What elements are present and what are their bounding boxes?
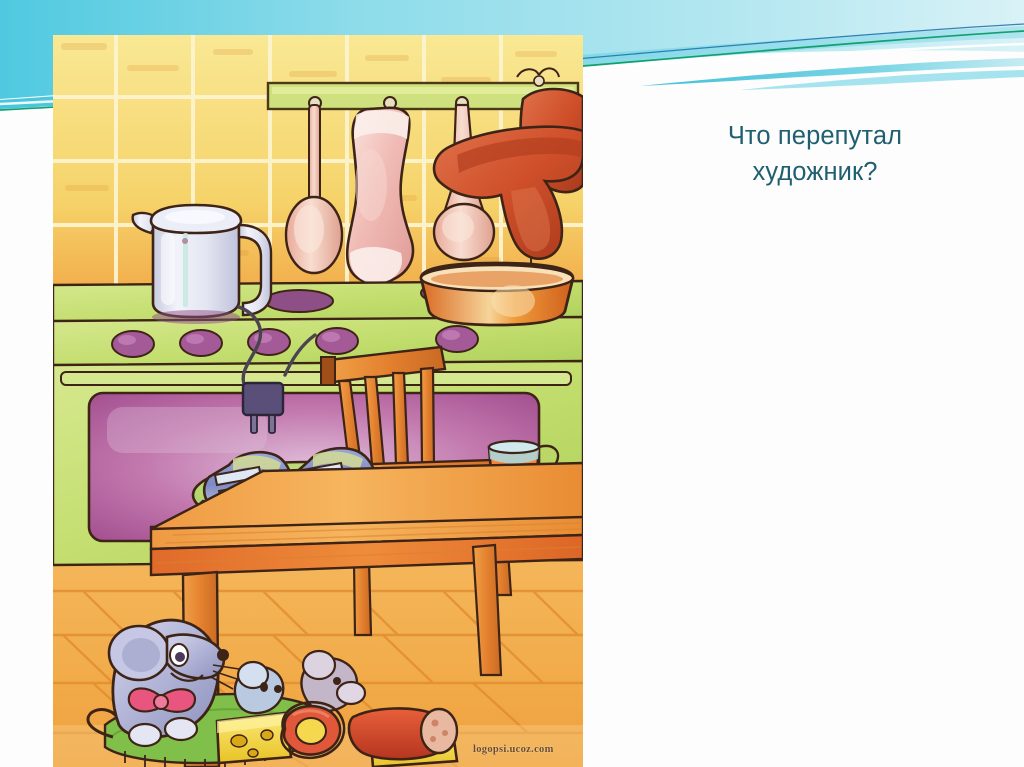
- swoosh-tail: [740, 70, 1024, 90]
- title-line-2: художник?: [620, 154, 1010, 190]
- sausage: [281, 702, 457, 759]
- slide-canvas: logopsi.ucoz.com Что перепутал художник?: [0, 0, 1024, 767]
- burner-2: [265, 290, 333, 312]
- title-line-1: Что перепутал: [620, 118, 1010, 154]
- kitchen-illustration-svg: [53, 35, 583, 767]
- swoosh-band-lower: [640, 58, 1024, 86]
- kitchen-picture: logopsi.ucoz.com: [53, 35, 583, 767]
- baking-pan: [421, 263, 573, 325]
- watermark-text: logopsi.ucoz.com: [473, 744, 554, 755]
- page-title: Что перепутал художник?: [620, 118, 1010, 190]
